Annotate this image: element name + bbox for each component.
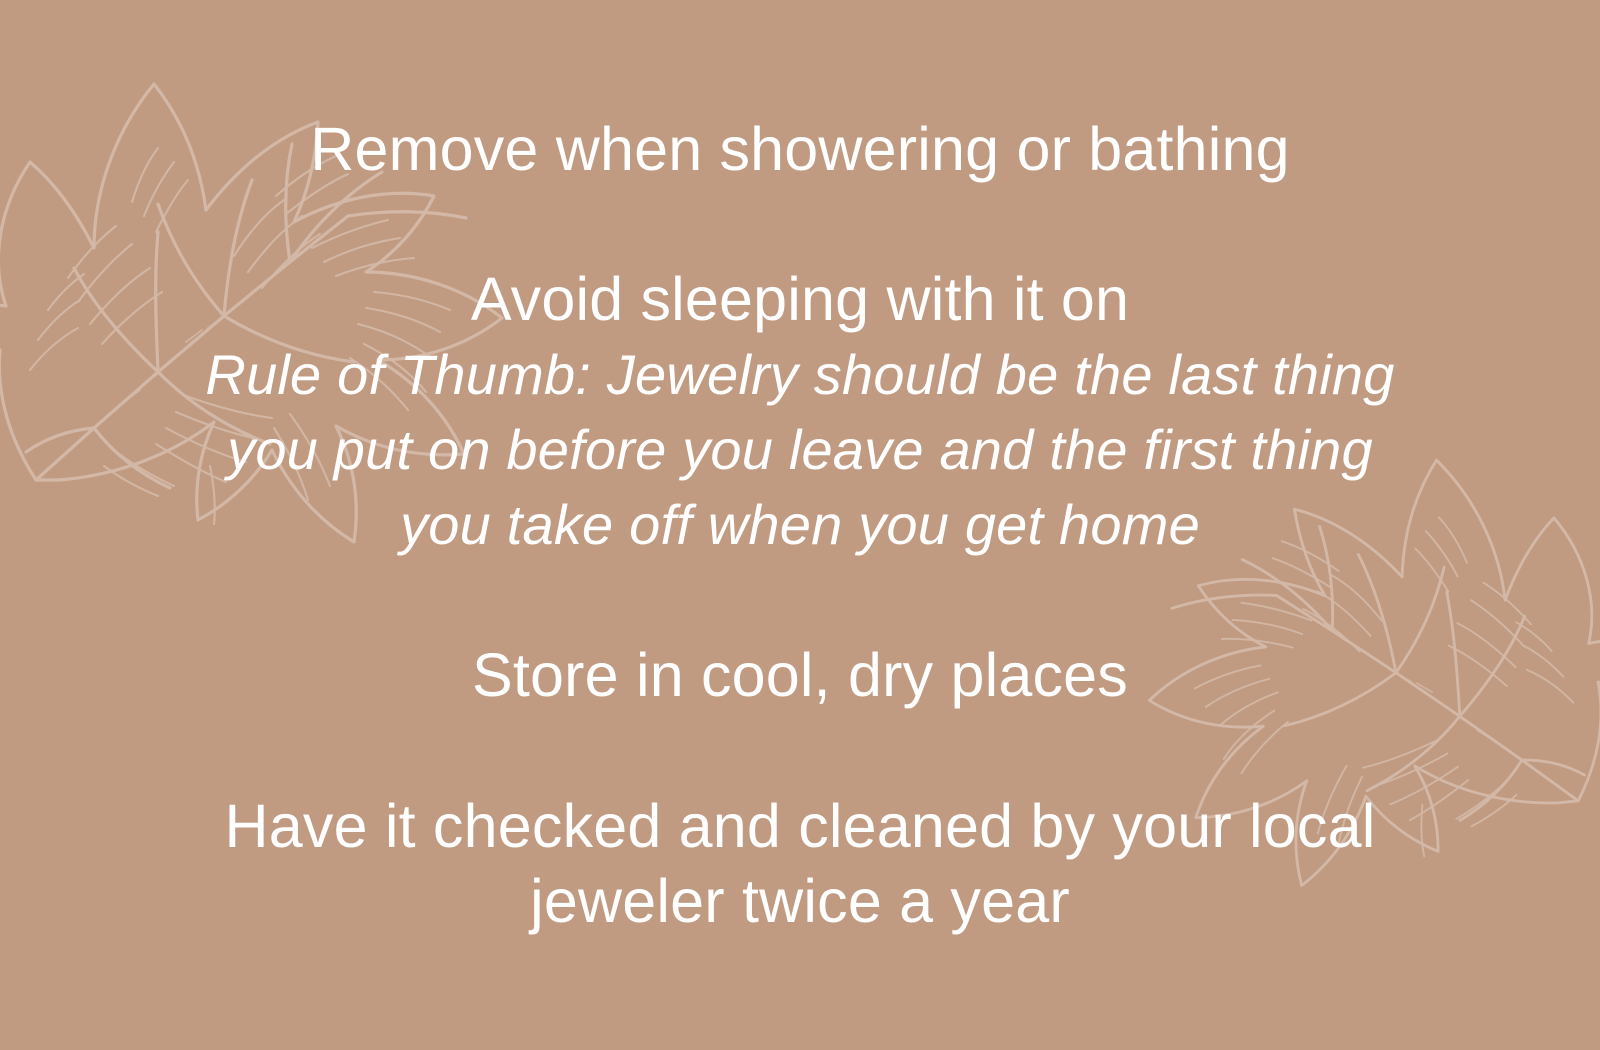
care-tip-jeweler-line-1: Have it checked and cleaned by your loca… [90, 789, 1510, 864]
care-tip-sleep-note-line-2: you put on before you leave and the firs… [90, 412, 1510, 487]
care-tip-jeweler: Have it checked and cleaned by your loca… [90, 789, 1510, 939]
care-tip-storage-line: Store in cool, dry places [90, 638, 1510, 713]
care-tip-sleep-note-line-3: you take off when you get home [90, 487, 1510, 562]
jewelry-care-card: Remove when showering or bathing Avoid s… [0, 0, 1600, 1050]
care-tip-sleep-line: Avoid sleeping with it on [90, 262, 1510, 337]
care-tips-list: Remove when showering or bathing Avoid s… [0, 0, 1600, 1050]
care-tip-shower: Remove when showering or bathing [90, 112, 1510, 187]
care-tip-jeweler-line-2: jeweler twice a year [90, 864, 1510, 939]
care-tip-sleep: Avoid sleeping with it on Rule of Thumb:… [90, 262, 1510, 562]
care-tip-shower-line: Remove when showering or bathing [90, 112, 1510, 187]
care-tip-storage: Store in cool, dry places [90, 638, 1510, 713]
care-tip-sleep-note-line-1: Rule of Thumb: Jewelry should be the las… [90, 337, 1510, 412]
